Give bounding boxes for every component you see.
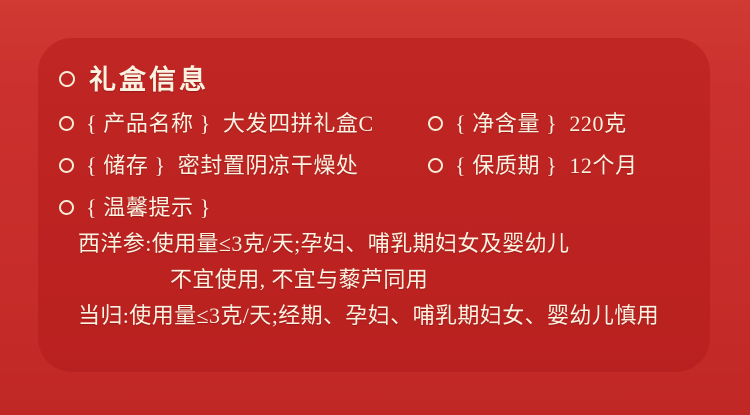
row-net-weight: { 净含量 } 220克 xyxy=(428,106,627,138)
row-shelf-life: { 保质期 } 12个月 xyxy=(428,148,638,180)
row-storage: { 储存 } 密封置阴凉干燥处 xyxy=(59,148,359,180)
tips-label: { 温馨提示 } xyxy=(86,190,211,222)
tips-line-1: 西洋参:使用量≤3克/天;孕妇、哺乳期妇女及婴幼儿 xyxy=(78,226,698,262)
page-title: 礼盒信息 xyxy=(89,58,209,97)
tips-line-3: 当归:使用量≤3克/天;经期、孕妇、哺乳期妇女、婴幼儿慎用 xyxy=(78,298,698,334)
row-product-name: { 产品名称 } 大发四拼礼盒C xyxy=(59,106,374,138)
card-title-row: 礼盒信息 xyxy=(59,58,209,97)
row-product-name-label: { 产品名称 } xyxy=(86,106,211,138)
row-shelf-life-label: { 保质期 } xyxy=(455,148,557,180)
circle-outline-icon xyxy=(428,116,443,131)
circle-outline-icon xyxy=(59,116,74,131)
row-shelf-life-value: 12个月 xyxy=(569,148,637,180)
gift-box-info-panel: 礼盒信息 { 产品名称 } 大发四拼礼盒C { 净含量 } 220克 { 储存 … xyxy=(0,0,750,415)
circle-outline-icon xyxy=(59,71,75,87)
tips-text-block: 西洋参:使用量≤3克/天;孕妇、哺乳期妇女及婴幼儿 不宜使用, 不宜与藜芦同用 … xyxy=(78,226,698,334)
circle-outline-icon xyxy=(428,158,443,173)
circle-outline-icon xyxy=(59,158,74,173)
info-card: 礼盒信息 { 产品名称 } 大发四拼礼盒C { 净含量 } 220克 { 储存 … xyxy=(38,38,710,372)
tips-line-2: 不宜使用, 不宜与藜芦同用 xyxy=(78,262,698,298)
row-storage-value: 密封置阴凉干燥处 xyxy=(178,148,359,180)
row-product-name-value: 大发四拼礼盒C xyxy=(223,106,374,138)
row-net-weight-label: { 净含量 } xyxy=(455,106,557,138)
circle-outline-icon xyxy=(59,200,74,215)
row-tips-label: { 温馨提示 } xyxy=(59,190,211,222)
row-storage-label: { 储存 } xyxy=(86,148,166,180)
row-net-weight-value: 220克 xyxy=(569,106,626,138)
